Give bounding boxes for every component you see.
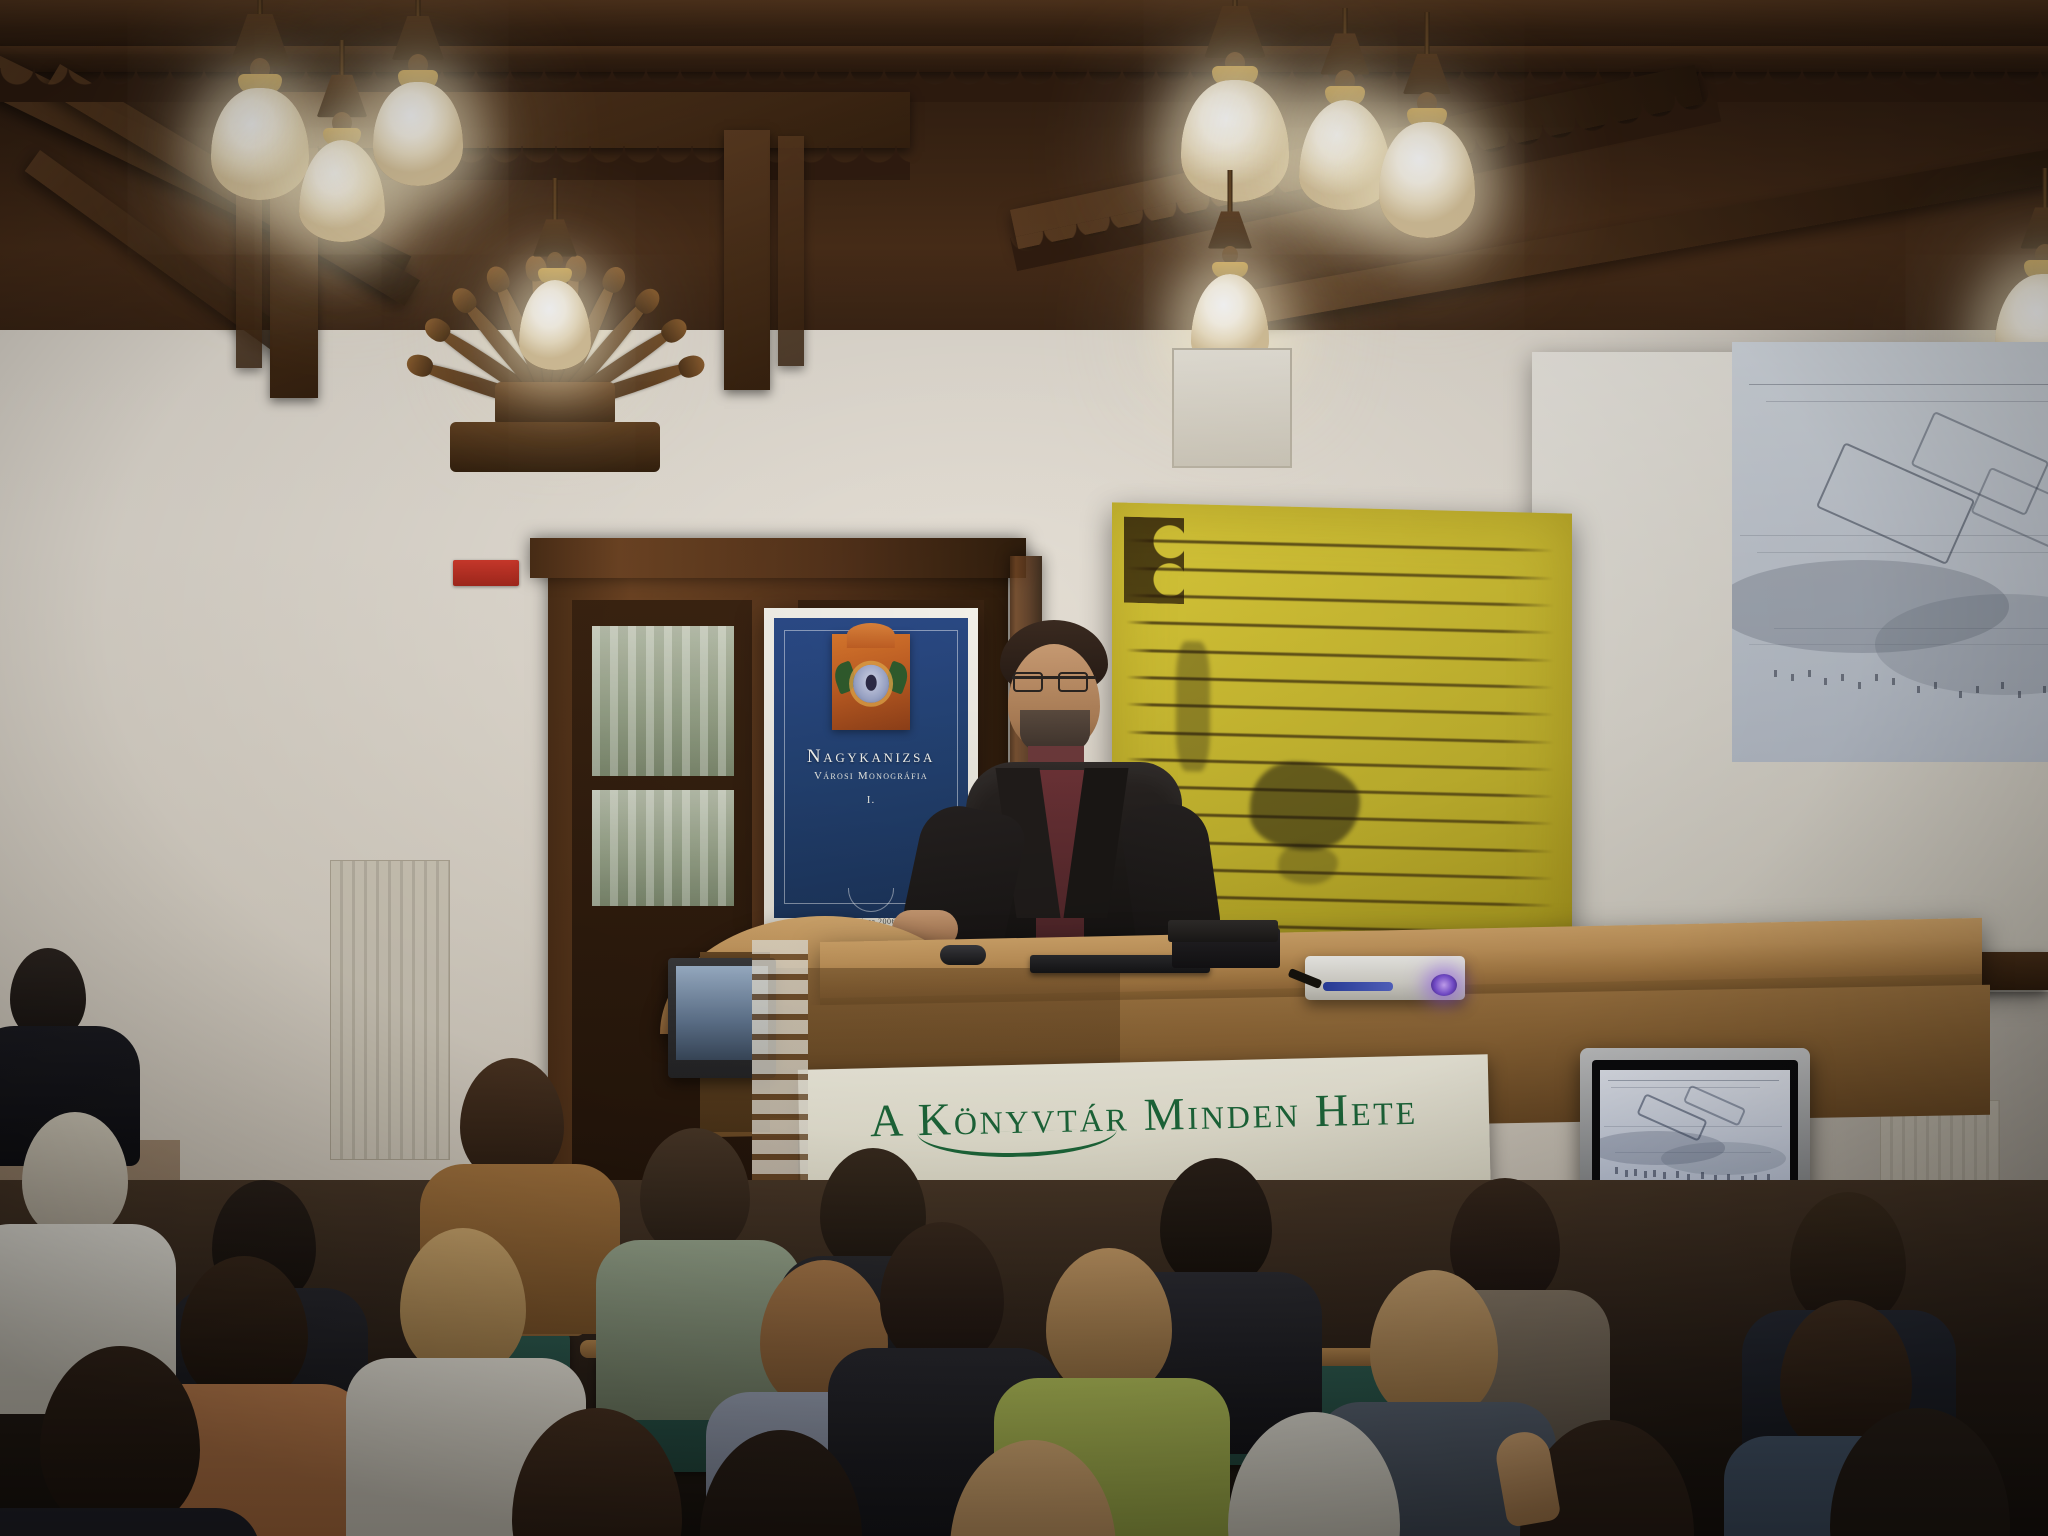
lecture-hall-photo: Nagykanizsa Városi Monográfia I. Nagykan… [0, 0, 2048, 1536]
photo-vignette [0, 0, 2048, 1536]
